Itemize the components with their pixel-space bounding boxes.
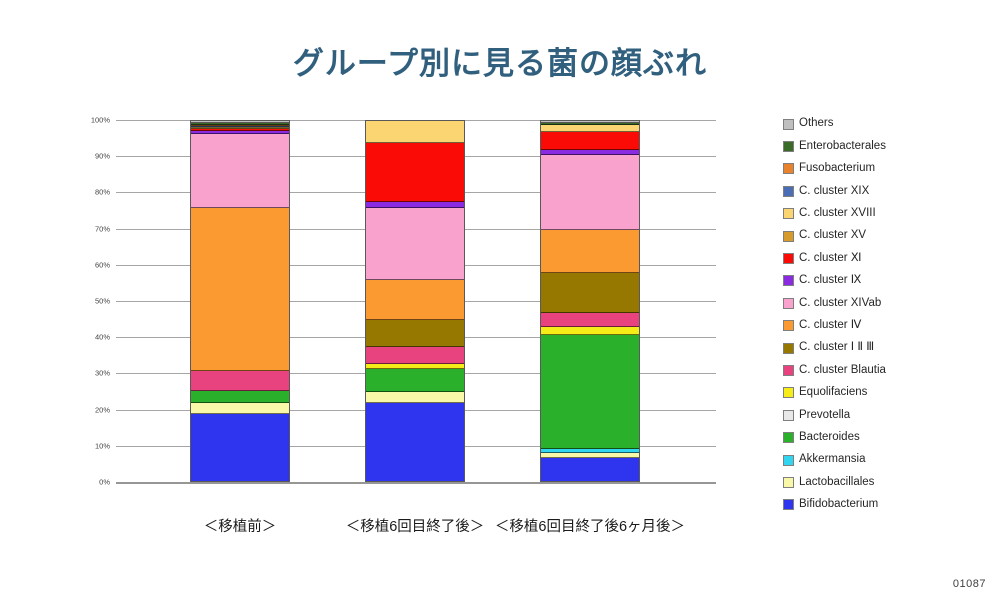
bar-segment[interactable] — [541, 458, 639, 482]
legend-item[interactable]: C. cluster Ⅸ — [783, 270, 998, 292]
legend-swatch-icon — [783, 432, 794, 443]
legend-item[interactable]: Prevotella — [783, 404, 998, 426]
legend-swatch-icon — [783, 410, 794, 421]
slide-canvas: グループ別に見る菌の顔ぶれ 0%10%20%30%40%50%60%70%80%… — [0, 0, 1000, 600]
bar-segment[interactable] — [191, 208, 289, 371]
x-axis-tick-label: ＜移植6回目終了後＞ — [346, 515, 485, 536]
legend-item-label: C. cluster Ⅳ — [799, 320, 861, 332]
bar-segment[interactable] — [366, 392, 464, 404]
x-axis-tick-label: ＜移植前＞ — [204, 515, 277, 536]
bar-segment[interactable] — [541, 121, 639, 123]
gridline — [116, 482, 716, 484]
bar-segment[interactable] — [366, 143, 464, 203]
bar-segment[interactable] — [541, 335, 639, 449]
legend-item-label: C. cluster Ⅸ — [799, 275, 861, 287]
bar-segment[interactable] — [366, 280, 464, 320]
chart-legend: OthersEnterobacteralesFusobacteriumC. cl… — [783, 113, 998, 516]
bar-segment[interactable] — [541, 453, 639, 458]
bar-segment[interactable] — [191, 131, 289, 134]
bar-segment[interactable] — [191, 126, 289, 127]
y-axis-tick-label: 90% — [78, 152, 110, 161]
bar-segment[interactable] — [191, 129, 289, 131]
legend-item-label: C. cluster XIX — [799, 186, 869, 198]
legend-swatch-icon — [783, 231, 794, 242]
legend-item-label: Others — [799, 118, 834, 130]
bar-segment[interactable] — [366, 121, 464, 143]
y-axis-tick-label: 50% — [78, 297, 110, 306]
stacked-bar[interactable] — [190, 120, 290, 482]
bar-segment[interactable] — [366, 202, 464, 207]
legend-item[interactable]: Equolifaciens — [783, 382, 998, 404]
bar-segment[interactable] — [191, 125, 289, 126]
bar-segment[interactable] — [366, 347, 464, 363]
legend-item[interactable]: C. cluster Ⅳ — [783, 315, 998, 337]
legend-swatch-icon — [783, 455, 794, 466]
bar-segment[interactable] — [541, 273, 639, 313]
stacked-bar[interactable] — [540, 120, 640, 482]
bar-segment[interactable] — [191, 120, 289, 123]
bar-segment[interactable] — [191, 134, 289, 208]
bar-segment[interactable] — [366, 320, 464, 347]
legend-item-label: C. cluster Blautia — [799, 365, 886, 377]
legend-swatch-icon — [783, 141, 794, 152]
bar-segment[interactable] — [541, 125, 639, 132]
legend-item[interactable]: Fusobacterium — [783, 158, 998, 180]
bar-segment[interactable] — [366, 369, 464, 392]
legend-item[interactable]: C. cluster Ⅰ Ⅱ Ⅲ — [783, 337, 998, 359]
legend-swatch-icon — [783, 320, 794, 331]
y-axis-tick-label: 0% — [78, 478, 110, 487]
bar-segment[interactable] — [541, 132, 639, 150]
chart-plot-area — [116, 120, 716, 482]
legend-item-label: Equolifaciens — [799, 387, 867, 399]
legend-item-label: Bifidobacterium — [799, 499, 878, 511]
bar-segment[interactable] — [541, 155, 639, 229]
y-axis-tick-label: 100% — [78, 116, 110, 125]
legend-item-label: C. cluster XIVab — [799, 298, 881, 310]
bar-segment[interactable] — [191, 128, 289, 129]
page-title: グループ別に見る菌の顔ぶれ — [0, 38, 1000, 83]
stacked-bar[interactable] — [365, 120, 465, 482]
bar-segment[interactable] — [541, 327, 639, 334]
legend-item-label: C. cluster Ⅺ — [799, 253, 862, 265]
legend-swatch-icon — [783, 186, 794, 197]
y-axis-tick-label: 80% — [78, 188, 110, 197]
footer-code: 01087 — [953, 578, 986, 590]
bar-segment[interactable] — [541, 313, 639, 327]
legend-swatch-icon — [783, 365, 794, 376]
legend-item[interactable]: Akkermansia — [783, 449, 998, 471]
bar-segment[interactable] — [366, 208, 464, 280]
y-axis-tick-label: 30% — [78, 369, 110, 378]
legend-swatch-icon — [783, 163, 794, 174]
bar-segment[interactable] — [191, 414, 289, 482]
legend-swatch-icon — [783, 298, 794, 309]
legend-item-label: Akkermansia — [799, 454, 865, 466]
legend-swatch-icon — [783, 119, 794, 130]
legend-swatch-icon — [783, 275, 794, 286]
legend-swatch-icon — [783, 343, 794, 354]
legend-item-label: C. cluster XVIII — [799, 208, 876, 220]
legend-item-label: Lactobacillales — [799, 477, 874, 489]
legend-swatch-icon — [783, 477, 794, 488]
legend-item[interactable]: C. cluster Blautia — [783, 359, 998, 381]
y-axis-tick-label: 20% — [78, 405, 110, 414]
x-axis-tick-label: ＜移植6回目終了後6ヶ月後＞ — [495, 515, 685, 536]
legend-item-label: Bacteroides — [799, 432, 860, 444]
x-axis-tick-labels: ＜移植前＞＜移植6回目終了後＞＜移植6回目終了後6ヶ月後＞ — [0, 515, 1000, 543]
legend-item[interactable]: C. cluster XVIII — [783, 203, 998, 225]
legend-item-label: Fusobacterium — [799, 163, 875, 175]
y-axis-tick-labels: 0%10%20%30%40%50%60%70%80%90%100% — [78, 120, 110, 482]
bar-segment[interactable] — [191, 403, 289, 414]
legend-item[interactable]: C. cluster XIX — [783, 180, 998, 202]
y-axis-tick-label: 40% — [78, 333, 110, 342]
legend-swatch-icon — [783, 253, 794, 264]
bar-segment[interactable] — [366, 364, 464, 369]
y-axis-tick-label: 10% — [78, 441, 110, 450]
bar-segment[interactable] — [541, 150, 639, 155]
bar-segment[interactable] — [191, 391, 289, 403]
legend-item[interactable]: Bacteroides — [783, 426, 998, 448]
bar-segment[interactable] — [191, 371, 289, 391]
legend-swatch-icon — [783, 208, 794, 219]
legend-item[interactable]: Bifidobacterium — [783, 494, 998, 516]
legend-item[interactable]: C. cluster Ⅺ — [783, 247, 998, 269]
legend-item-label: C. cluster Ⅰ Ⅱ Ⅲ — [799, 342, 874, 354]
legend-item-label: C. cluster XV — [799, 230, 866, 242]
legend-item[interactable]: Enterobacterales — [783, 135, 998, 157]
legend-item[interactable]: Others — [783, 113, 998, 135]
legend-item[interactable]: Lactobacillales — [783, 471, 998, 493]
legend-item[interactable]: C. cluster XV — [783, 225, 998, 247]
bar-segment[interactable] — [366, 403, 464, 482]
legend-swatch-icon — [783, 499, 794, 510]
y-axis-tick-label: 60% — [78, 260, 110, 269]
legend-item-label: Enterobacterales — [799, 141, 886, 153]
legend-swatch-icon — [783, 387, 794, 398]
bar-segment[interactable] — [541, 230, 639, 273]
bar-segment[interactable] — [541, 123, 639, 125]
bar-segment[interactable] — [541, 449, 639, 453]
legend-item-label: Prevotella — [799, 410, 850, 422]
legend-item[interactable]: C. cluster XIVab — [783, 292, 998, 314]
bar-segment[interactable] — [191, 123, 289, 125]
y-axis-tick-label: 70% — [78, 224, 110, 233]
